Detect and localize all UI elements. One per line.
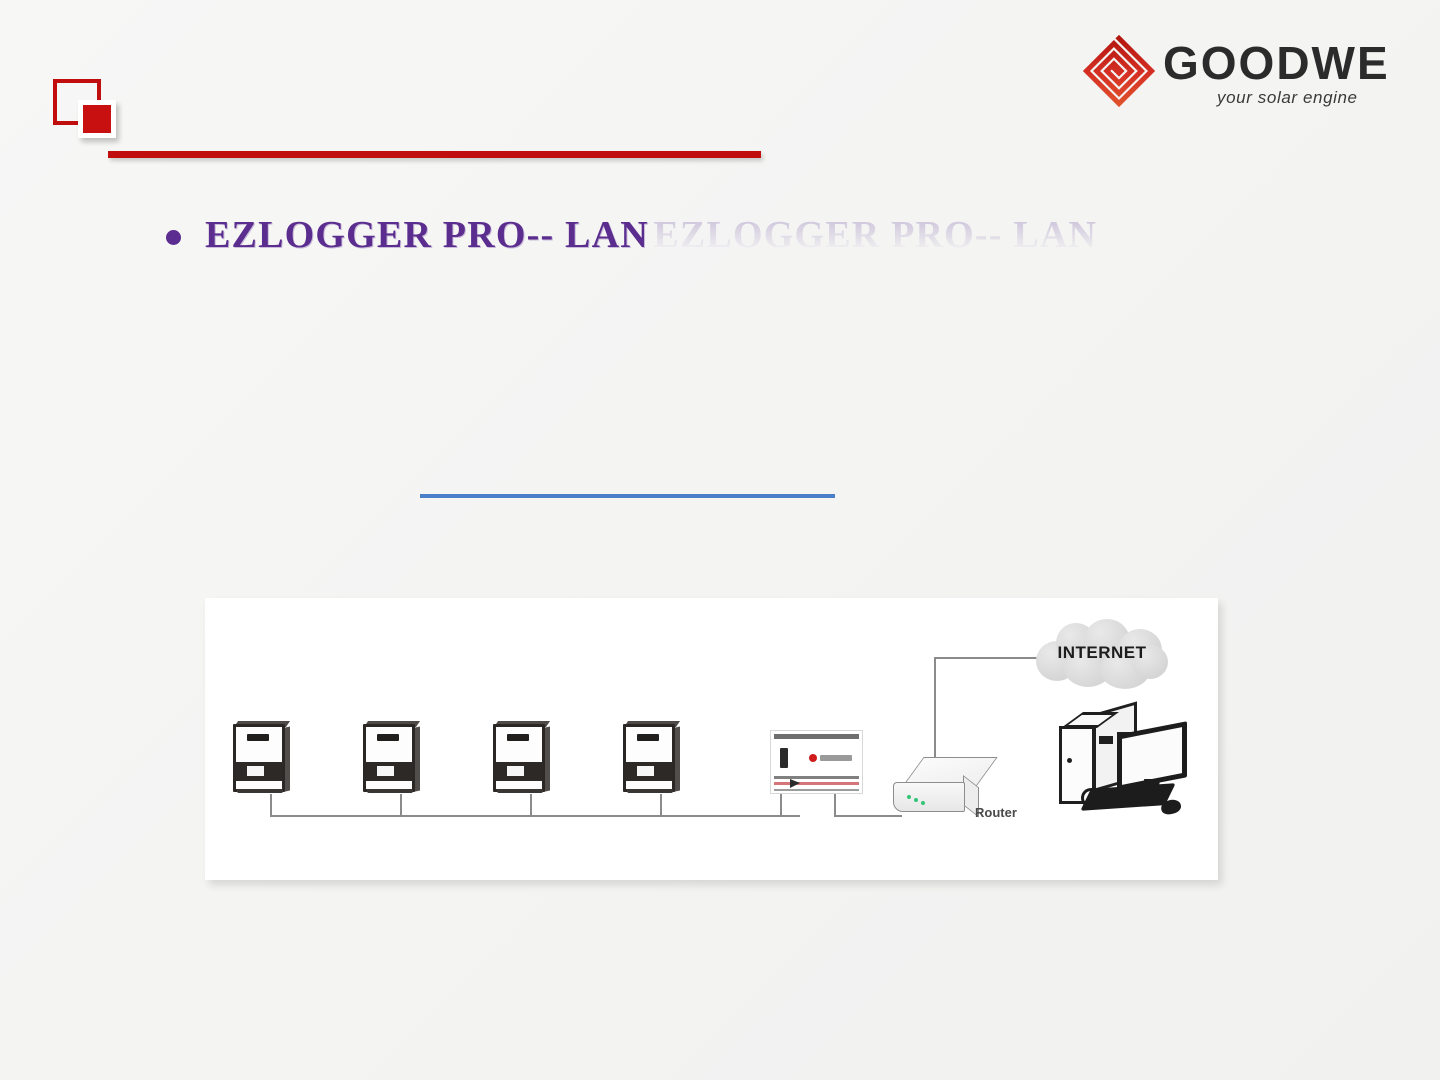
router-led-icon [907, 795, 911, 799]
inverter-icon [490, 721, 552, 797]
pc-drive-bay [1099, 736, 1113, 744]
ezlogger-port-icon [780, 748, 788, 768]
ezlogger-bus-wire [780, 794, 782, 816]
network-diagram: Router INTERNET [205, 598, 1218, 880]
ezlogger-label-strip [820, 755, 852, 761]
ezlogger-top-bar [774, 734, 859, 739]
bus-wire [270, 815, 800, 817]
inverter-drop-wire [270, 794, 272, 816]
header-red-rule [108, 151, 761, 158]
header-filled-square [78, 100, 116, 138]
router-internet-vertical-wire [934, 657, 936, 761]
blue-divider-line [420, 494, 835, 498]
router-front-face [893, 782, 965, 812]
brand-tagline: your solar engine [1217, 88, 1358, 108]
pc-power-button-icon [1067, 758, 1072, 763]
goodwe-spiral-diamond-logo [1083, 35, 1155, 107]
router-led-icon [921, 801, 925, 805]
page-title: EZLOGGER PRO-- LAN [205, 214, 649, 256]
inverter-icon [230, 721, 292, 797]
ezlogger-status-led [809, 754, 817, 762]
router-led-icon [914, 798, 918, 802]
inverter-drop-wire [660, 794, 662, 816]
page-title-reflection: EZLOGGER PRO-- LAN [653, 214, 1097, 256]
network-diagram-panel: Router INTERNET [205, 598, 1218, 880]
slide-title-stack: EZLOGGER PRO-- LAN EZLOGGER PRO-- LAN [205, 216, 1097, 256]
brand-logo: GOODWE your solar engine [1083, 30, 1383, 110]
bullet-icon [166, 230, 181, 245]
ezlogger-router-drop-wire [834, 794, 836, 816]
router-device: Router [891, 757, 987, 819]
brand-wordmark: GOODWE [1163, 40, 1390, 86]
router-internet-horizontal-wire [934, 657, 1042, 659]
inverter-icon [620, 721, 682, 797]
internet-cloud-label: INTERNET [1034, 643, 1170, 663]
inverter-drop-wire [400, 794, 402, 816]
ezlogger-connector-icon [790, 779, 800, 788]
computer-icon [1053, 706, 1193, 828]
internet-cloud-icon: INTERNET [1034, 619, 1170, 691]
router-label: Router [975, 805, 1017, 820]
inverter-drop-wire [530, 794, 532, 816]
ezlogger-base-strip [774, 789, 859, 791]
ezlogger-pro-device [770, 730, 863, 794]
inverter-icon [360, 721, 422, 797]
ezlogger-red-strip [774, 782, 859, 785]
ezlogger-gray-strip [774, 776, 859, 779]
slide-title-row: EZLOGGER PRO-- LAN EZLOGGER PRO-- LAN [166, 216, 1097, 256]
